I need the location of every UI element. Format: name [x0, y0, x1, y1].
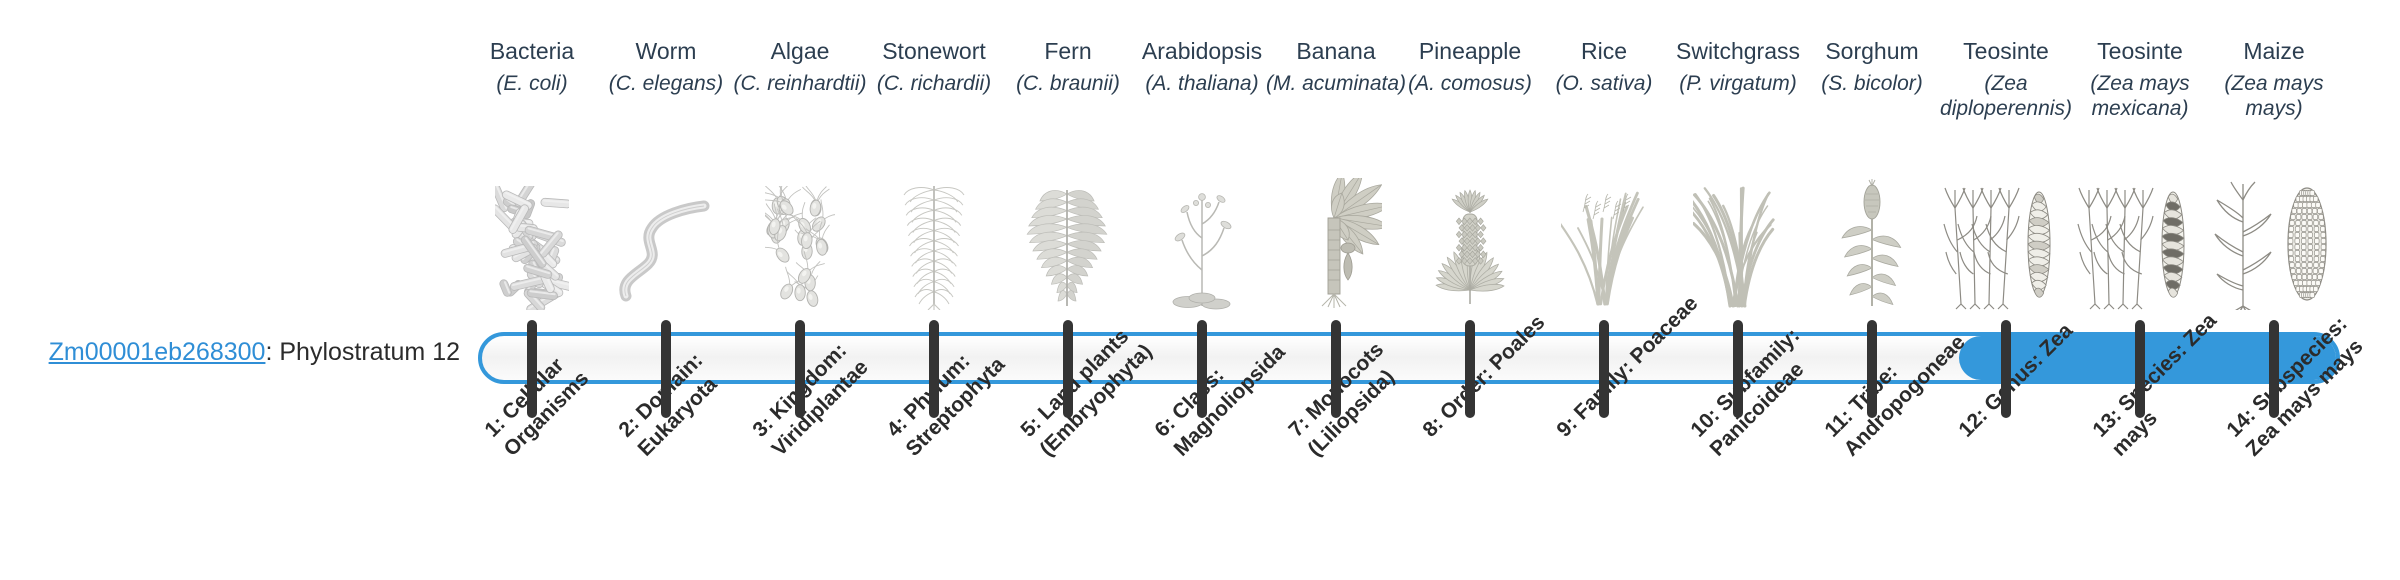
species-common-name: Maize — [2193, 38, 2355, 65]
phylostratum-value-text: Phylostratum 12 — [279, 338, 460, 366]
phylostratum-tick[interactable] — [1063, 320, 1073, 418]
phylostratum-tick[interactable] — [1465, 320, 1475, 418]
sorghum-panicle-illustration — [1805, 168, 1939, 310]
phylostratum-timeline-figure: Zm00001eb268300: Phylostratum 12 Bacteri… — [0, 0, 2400, 580]
gene-phylostratum-label: Zm00001eb268300: Phylostratum 12 — [40, 340, 460, 365]
phylostratum-tick[interactable] — [1867, 320, 1877, 418]
species-column: Stonewort(C. richardii) — [867, 0, 1001, 580]
phylostratum-tick[interactable] — [795, 320, 805, 418]
switchgrass-illustration — [1671, 168, 1805, 310]
gene-id-link[interactable]: Zm00001eb268300 — [49, 338, 266, 366]
species-column: Arabidopsis(A. thaliana) — [1135, 0, 1269, 580]
species-column: Pineapple(A. comosus) — [1403, 0, 1537, 580]
species-column: Teosinte(Zea diploperennis) — [1939, 0, 2073, 580]
species-header: Maize(Zea mays mays) — [2193, 38, 2355, 122]
species-column: Algae(C. reinhardtii) — [733, 0, 867, 580]
nematode-worm-illustration — [599, 168, 733, 310]
species-column: Switchgrass(P. virgatum)10: Subfamily: P… — [1671, 0, 1805, 580]
teosinte-plant-and-ear-illustration — [1939, 168, 2073, 310]
chlamydomonas-cells-illustration — [733, 168, 867, 310]
phylostratum-tick[interactable] — [2001, 320, 2011, 418]
pineapple-plant-illustration — [1403, 168, 1537, 310]
fern-frond-illustration — [1001, 168, 1135, 310]
species-scientific-name: (Zea mays mays) — [2193, 72, 2355, 122]
phylostratum-tick[interactable] — [1599, 320, 1609, 418]
phylostratum-tick[interactable] — [1331, 320, 1341, 418]
phylostratum-tick[interactable] — [1733, 320, 1743, 418]
arabidopsis-plant-illustration — [1135, 168, 1269, 310]
species-column: Worm(C. elegans) 2: Domain: Eukaryota — [599, 0, 733, 580]
phylostratum-tick[interactable] — [2269, 320, 2279, 418]
rice-grass-illustration — [1537, 168, 1671, 310]
phylostratum-tick[interactable] — [1197, 320, 1207, 418]
species-column: Bacteria(E. coli) — [465, 0, 599, 580]
species-column: Banana(M. acuminata) — [1269, 0, 1403, 580]
taxonomic-rank-label: 14: Subspecies: Zea mays mays — [2221, 290, 2394, 463]
bacteria-rods-illustration — [465, 168, 599, 310]
phylostratum-tick[interactable] — [2135, 320, 2145, 418]
maize-plant-and-cob-illustration — [2207, 168, 2341, 310]
banana-palm-illustration — [1269, 168, 1403, 310]
stonewort-alga-illustration — [867, 168, 1001, 310]
species-column: Teosinte(Zea mays mexicana) — [2073, 0, 2207, 580]
gene-label-separator: : — [265, 338, 279, 366]
species-column: Sorghum(S. bicolor) 11: Tribe: Andropogo… — [1805, 0, 1939, 580]
species-column: Maize(Zea mays mays) 14: Subspecies: Zea… — [2207, 0, 2341, 580]
species-column: Rice(O. sativa) 9: Family: Poaceae — [1537, 0, 1671, 580]
phylostratum-tick[interactable] — [929, 320, 939, 418]
phylostratum-tick[interactable] — [527, 320, 537, 418]
species-column: Fern(C. braunii) — [1001, 0, 1135, 580]
teosinte-mexicana-plant-and-ear-illustration — [2073, 168, 2207, 310]
species-columns: Bacteria(E. coli) — [465, 0, 2340, 580]
phylostratum-tick[interactable] — [661, 320, 671, 418]
